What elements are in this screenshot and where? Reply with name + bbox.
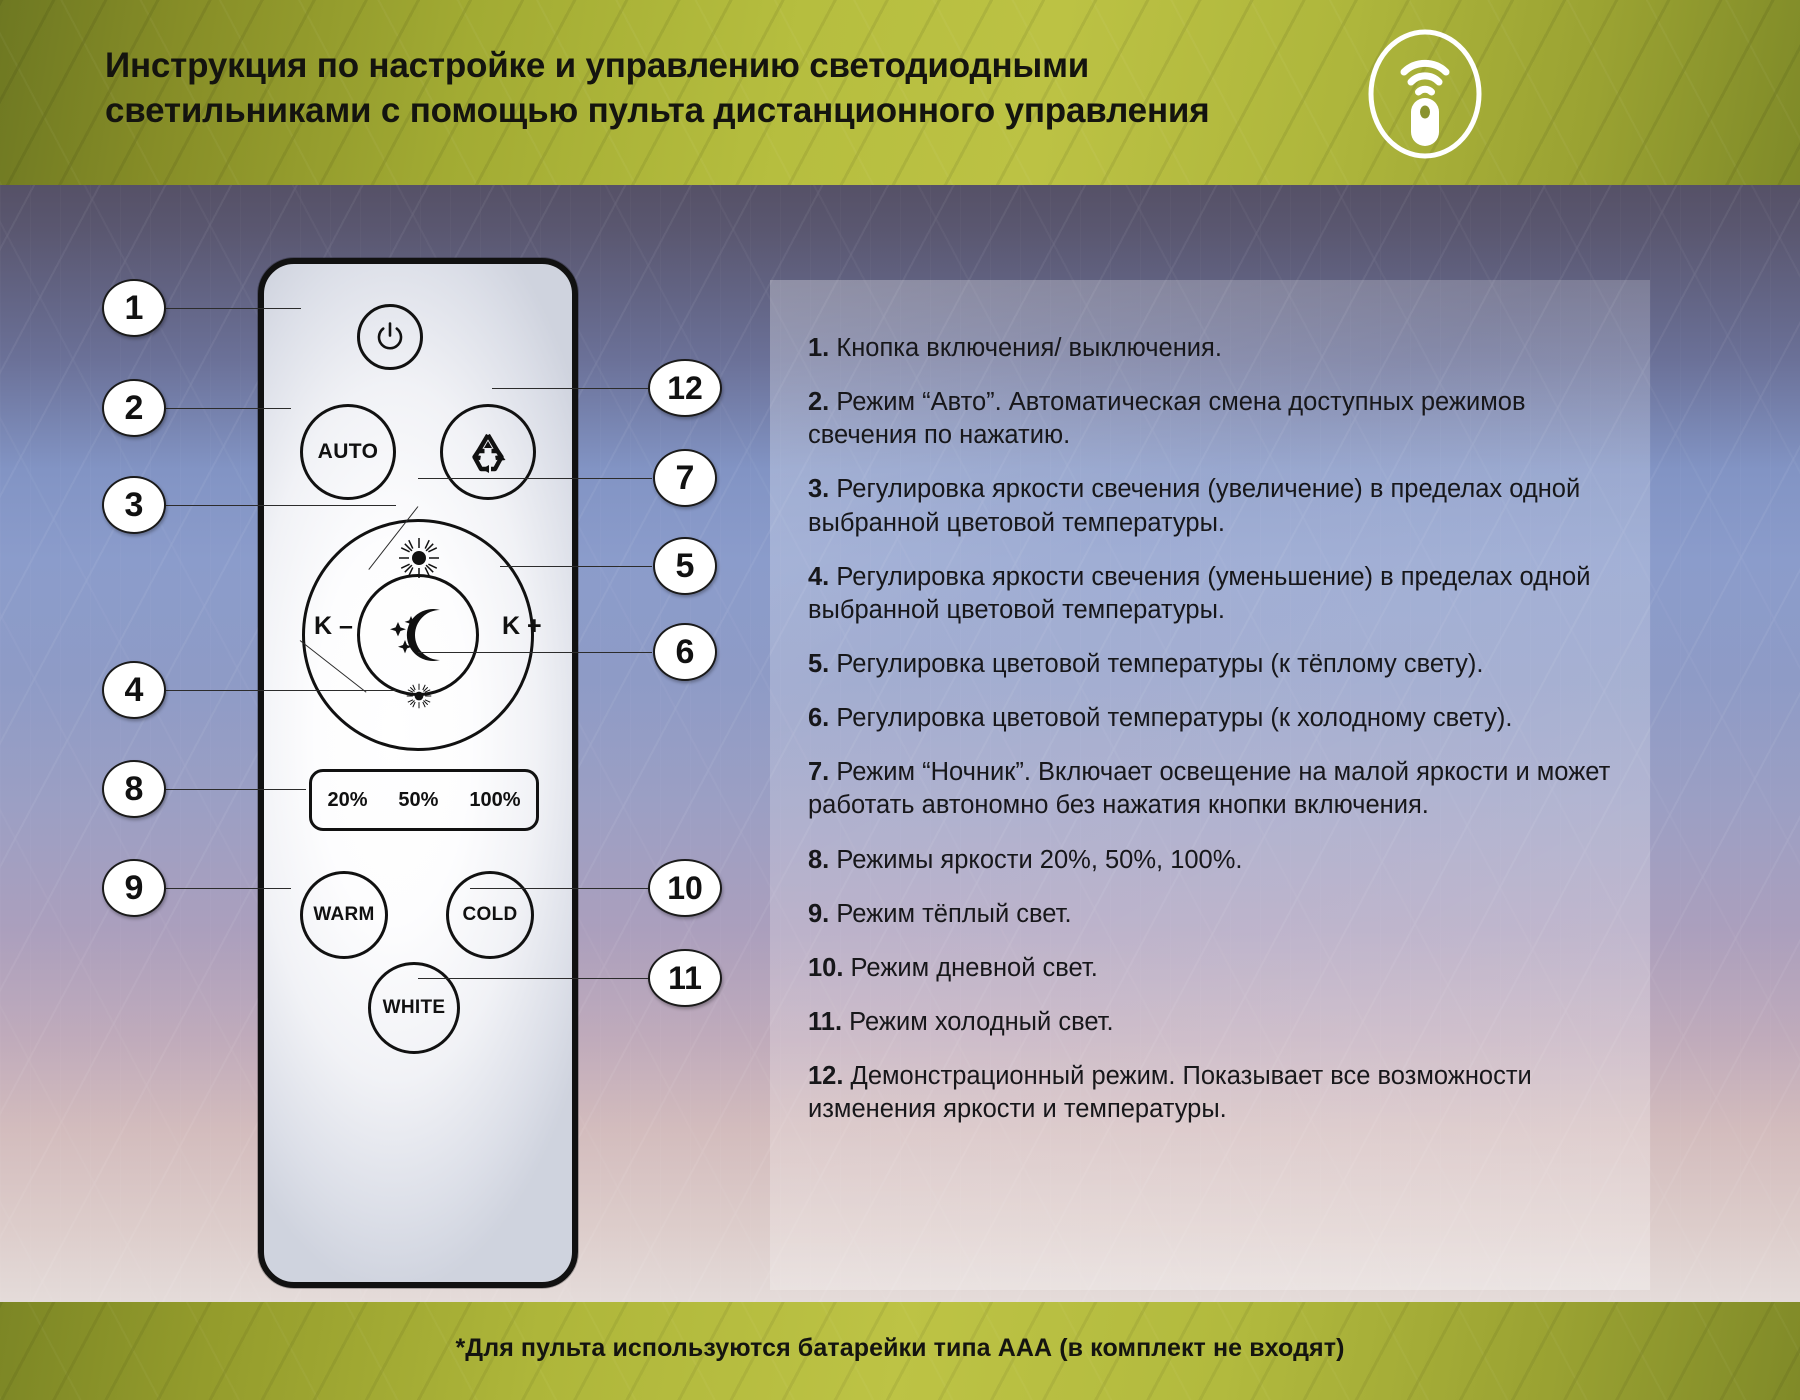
leader-line-5 (500, 566, 652, 567)
instruction-number: 10. (808, 954, 843, 982)
instruction-item-5: 5. Регулировка цветовой температуры (к т… (808, 648, 1640, 681)
instruction-text: Регулировка цветовой температуры (к холо… (836, 704, 1512, 732)
instructions-panel: 1. Кнопка включения/ выключения. 2. Режи… (770, 280, 1650, 1290)
instruction-number: 3. (808, 475, 829, 503)
power-button[interactable] (357, 304, 423, 370)
leader-line-2 (166, 408, 291, 409)
sun-dim-icon (404, 681, 434, 711)
callout-badge-2[interactable]: 2 (102, 379, 166, 437)
instruction-number: 7. (808, 758, 829, 786)
instruction-text: Режим холодный свет. (849, 1008, 1113, 1036)
night-mode-button[interactable] (357, 574, 479, 696)
callout-badge-11[interactable]: 11 (648, 949, 722, 1007)
brightness-level-20[interactable]: 20% (327, 789, 367, 812)
k-minus-label[interactable]: K – (314, 612, 353, 641)
remote-control-body: AUTO (258, 258, 578, 1288)
instruction-text: Режим тёплый свет. (836, 900, 1071, 928)
instruction-item-6: 6. Регулировка цветовой температуры (к х… (808, 702, 1640, 735)
instruction-number: 4. (808, 563, 829, 591)
instruction-text: Режим “Ночник”. Включает освещение на ма… (808, 758, 1610, 819)
auto-mode-button[interactable]: AUTO (300, 404, 396, 500)
instruction-item-4: 4. Регулировка яркости свечения (уменьше… (808, 561, 1640, 627)
instruction-item-12: 12. Демонстрационный режим. Показывает в… (808, 1060, 1640, 1126)
leader-line-12 (492, 388, 652, 389)
leader-line-10 (470, 888, 652, 889)
warm-light-button[interactable]: WARM (300, 871, 388, 959)
instruction-number: 12. (808, 1062, 843, 1090)
leader-line-9 (166, 888, 291, 889)
instruction-number: 9. (808, 900, 829, 928)
callout-badge-8[interactable]: 8 (102, 760, 166, 818)
demo-mode-button[interactable] (440, 404, 536, 500)
instruction-item-3: 3. Регулировка яркости свечения (увеличе… (808, 473, 1640, 539)
instruction-item-8: 8. Режимы яркости 20%, 50%, 100%. (808, 844, 1640, 877)
instruction-text: Демонстрационный режим. Показывает все в… (808, 1062, 1532, 1123)
instruction-text: Регулировка цветовой температуры (к тёпл… (836, 650, 1483, 678)
leader-line-3 (166, 505, 396, 506)
power-icon (373, 320, 407, 354)
instructions-list: 1. Кнопка включения/ выключения. 2. Режи… (808, 332, 1640, 1147)
callout-badge-10[interactable]: 10 (648, 859, 722, 917)
instruction-item-2: 2. Режим “Авто”. Автоматическая смена до… (808, 386, 1640, 452)
infographic-page: Инструкция по настройке и управлению све… (0, 0, 1800, 1400)
instruction-item-7: 7. Режим “Ночник”. Включает освещение на… (808, 756, 1640, 822)
instruction-number: 8. (808, 846, 829, 874)
cold-light-button[interactable]: COLD (446, 871, 534, 959)
brightness-down-button[interactable] (404, 681, 434, 711)
callout-badge-3[interactable]: 3 (102, 476, 166, 534)
instruction-text: Режим дневной свет. (851, 954, 1098, 982)
instruction-number: 11. (808, 1008, 842, 1036)
callout-badge-12[interactable]: 12 (648, 359, 722, 417)
brightness-level-50[interactable]: 50% (398, 789, 438, 812)
brightness-level-100[interactable]: 100% (469, 789, 520, 812)
callout-badge-7[interactable]: 7 (653, 449, 717, 507)
remote-control-signal-icon (1355, 24, 1495, 164)
instruction-text: Регулировка яркости свечения (увеличение… (808, 475, 1580, 536)
instruction-number: 1. (808, 334, 829, 362)
callout-badge-5[interactable]: 5 (653, 537, 717, 595)
instruction-number: 6. (808, 704, 829, 732)
instruction-item-10: 10. Режим дневной свет. (808, 952, 1640, 985)
battery-note: *Для пульта используются батарейки типа … (0, 1334, 1800, 1363)
callout-badge-9[interactable]: 9 (102, 859, 166, 917)
leader-line-6 (418, 652, 652, 653)
header-banner: Инструкция по настройке и управлению све… (0, 0, 1800, 185)
instruction-text: Режимы яркости 20%, 50%, 100%. (836, 846, 1242, 874)
leader-line-7 (418, 478, 652, 479)
k-plus-label[interactable]: K + (502, 612, 542, 641)
leader-line-8 (166, 789, 306, 790)
instruction-number: 2. (808, 388, 829, 416)
footer-banner: *Для пульта используются батарейки типа … (0, 1302, 1800, 1400)
moon-stars-icon (380, 602, 456, 668)
white-light-button[interactable]: WHITE (368, 962, 460, 1054)
callout-badge-6[interactable]: 6 (653, 623, 717, 681)
leader-line-4 (166, 690, 396, 691)
recycle-loop-icon (460, 424, 516, 480)
instruction-item-11: 11. Режим холодный свет. (808, 1006, 1640, 1039)
instruction-number: 5. (808, 650, 829, 678)
instruction-text: Режим “Авто”. Автоматическая смена досту… (808, 388, 1526, 449)
brightness-levels-bar[interactable]: 20% 50% 100% (309, 769, 539, 831)
callout-badge-4[interactable]: 4 (102, 661, 166, 719)
instruction-item-9: 9. Режим тёплый свет. (808, 898, 1640, 931)
instruction-text: Кнопка включения/ выключения. (836, 334, 1222, 362)
callout-badge-1[interactable]: 1 (102, 279, 166, 337)
instruction-text: Регулировка яркости свечения (уменьшение… (808, 563, 1590, 624)
leader-line-1 (166, 308, 301, 309)
leader-line-11 (418, 978, 652, 979)
page-title: Инструкция по настройке и управлению све… (105, 44, 1285, 134)
instruction-item-1: 1. Кнопка включения/ выключения. (808, 332, 1640, 365)
